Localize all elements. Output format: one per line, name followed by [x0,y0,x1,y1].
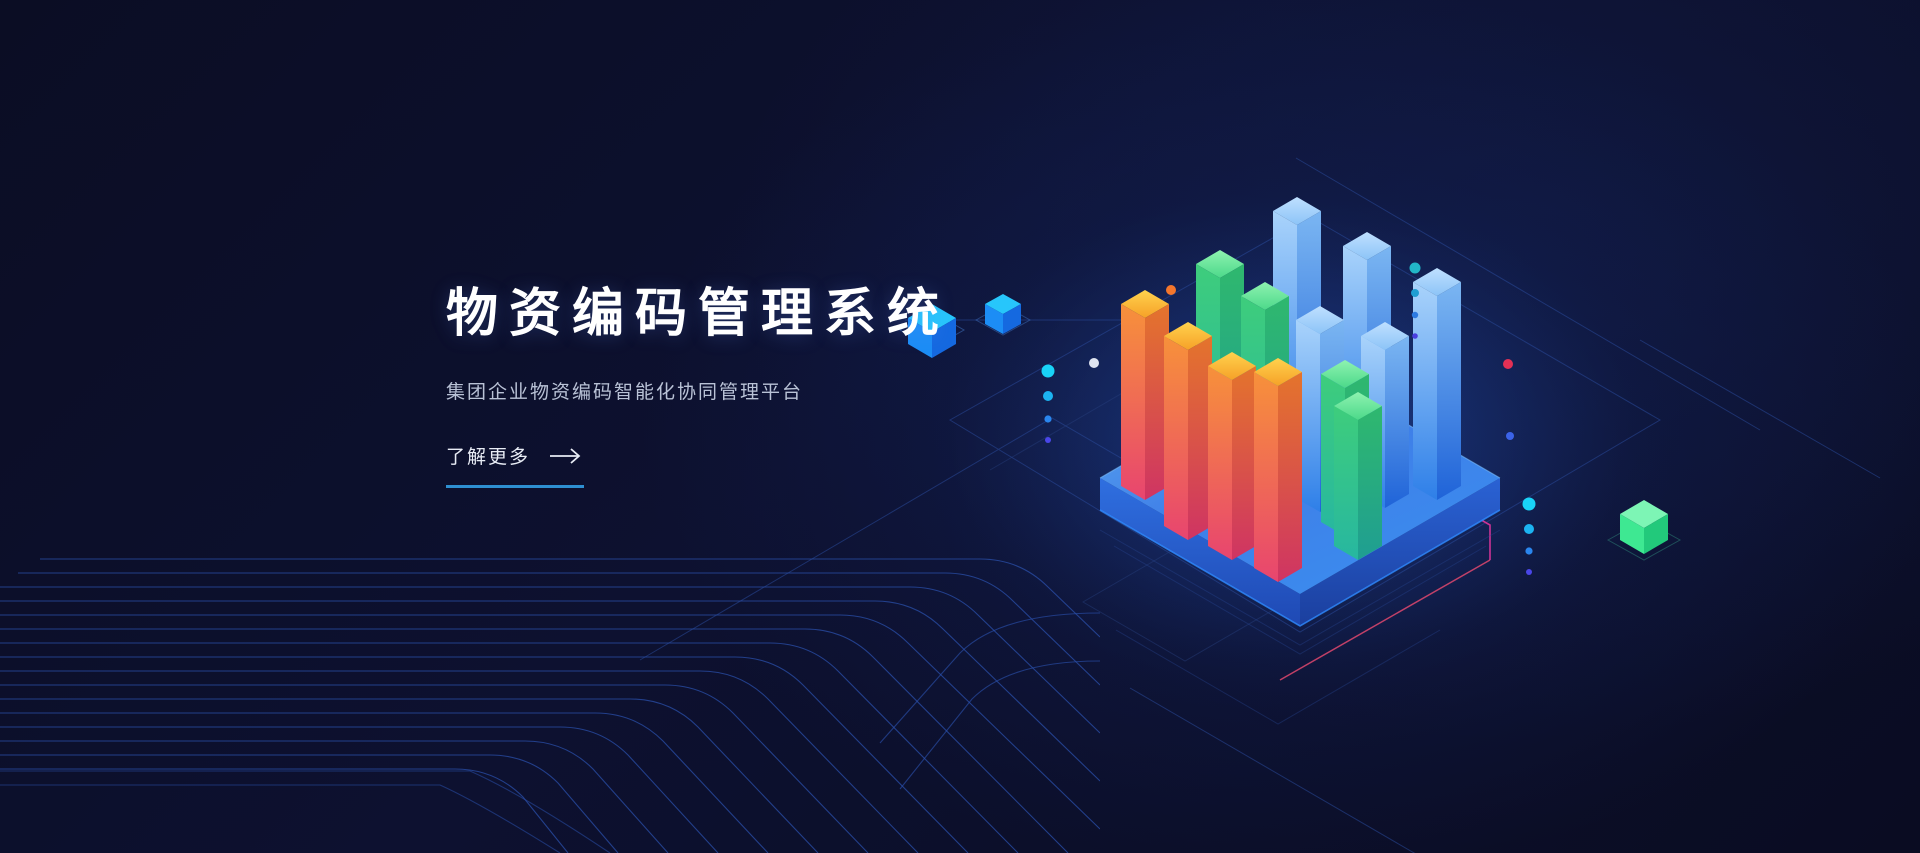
dot-column-right-lower [1523,498,1536,576]
hero-banner: 物资编码管理系统 集团企业物资编码智能化协同管理平台 了解更多 [0,0,1920,853]
bar-b2-orange [1164,322,1212,540]
dot-blue-small [1506,432,1514,440]
green-cube-illustration [1608,500,1680,560]
bar-b4-orange [1208,352,1256,560]
page-title: 物资编码管理系统 [446,282,950,347]
dot-white [1089,358,1099,368]
arrow-right-icon [550,447,584,465]
dot-red [1503,359,1513,369]
bar-b1-orange [1121,290,1169,500]
title-cube-icon [972,284,1034,346]
dot-orange [1166,285,1176,295]
page-subtitle: 集团企业物资编码智能化协同管理平台 [446,377,1086,404]
bar-b10-green [1334,392,1382,560]
learn-more-link[interactable]: 了解更多 [446,442,584,488]
bar-b6-orange [1254,358,1302,582]
learn-more-label: 了解更多 [446,442,530,469]
hero-text-block: 物资编码管理系统 集团企业物资编码智能化协同管理平台 了解更多 [446,282,1086,488]
bar-b13-blue [1413,268,1461,500]
